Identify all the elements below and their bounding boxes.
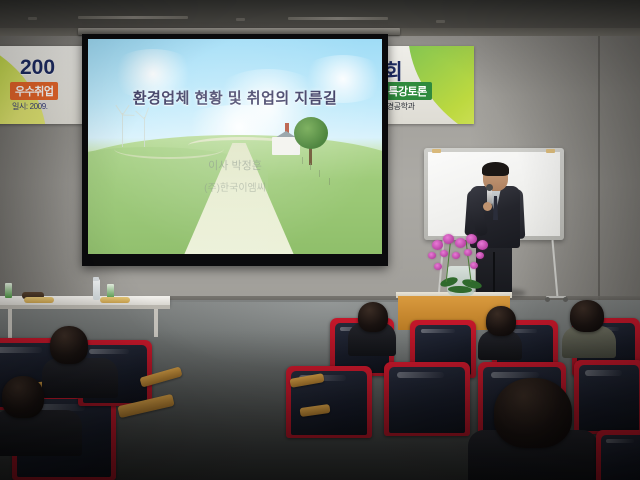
orchid-bloom xyxy=(428,252,436,259)
turbine-blade xyxy=(135,111,145,120)
seat-cushion xyxy=(601,435,640,480)
ceiling-light-strip xyxy=(78,16,188,19)
audience-head xyxy=(494,378,572,448)
seat-cushion xyxy=(389,367,465,433)
ceiling xyxy=(0,0,640,30)
audience-head xyxy=(570,300,604,332)
lecture-hall-photo: 200 우수취업 일시: 2009. 수회 취업특강토론 학교 환경공학과 xyxy=(0,0,640,480)
orchid-bloom xyxy=(434,263,442,270)
orchid-bloom xyxy=(470,262,478,269)
table-leg xyxy=(154,309,158,337)
orchid-bloom xyxy=(455,238,466,248)
ceiling-fixture xyxy=(236,18,245,21)
bottle-cap xyxy=(93,277,99,281)
projection-screen: 환경업체 현황 및 취업의 지름길 이사 박정훈 (주)한국이엠씨 xyxy=(82,34,388,266)
orchid-bloom xyxy=(443,234,454,244)
banner-left-year: 200 xyxy=(20,56,55,80)
orchid-bloom xyxy=(477,240,488,250)
orchid-bloom xyxy=(464,249,472,256)
auditorium-seat xyxy=(596,430,640,480)
banner-left-subtitle: 일시: 2009. xyxy=(12,101,48,112)
whiteboard-clip xyxy=(432,149,441,153)
whiteboard-clip xyxy=(546,149,555,153)
seat-highlight xyxy=(606,439,635,444)
orchid-bloom xyxy=(452,252,460,259)
water-bottle xyxy=(93,279,100,300)
slide-tree xyxy=(294,117,328,149)
ceiling-fixture xyxy=(28,17,37,20)
auditorium-seat xyxy=(384,362,470,436)
snack-plate xyxy=(100,297,130,303)
presenter-hand xyxy=(483,202,492,211)
ceiling-light-strip xyxy=(288,17,388,20)
presenter-leg-gap xyxy=(493,252,495,296)
screen-bottom-bar xyxy=(82,254,388,266)
presenter-hair xyxy=(482,162,509,176)
orchid-bloom xyxy=(466,234,477,244)
audience-shoulders xyxy=(42,358,118,398)
whiteboard-wheel xyxy=(545,297,550,302)
turbine-blade xyxy=(144,108,149,120)
auditorium-seat xyxy=(574,360,640,434)
orchid-bloom xyxy=(432,240,443,250)
audience-head xyxy=(486,306,516,336)
projection-screen-surface: 환경업체 현황 및 취업의 지름길 이사 박정훈 (주)한국이엠씨 xyxy=(88,39,382,254)
orchid-bloom xyxy=(476,252,484,259)
ceiling-fixture xyxy=(436,20,445,23)
wall-corner xyxy=(598,36,600,304)
refreshment-table-edge xyxy=(0,305,170,309)
audience-head xyxy=(50,326,88,364)
seat-highlight xyxy=(585,370,622,376)
seat-highlight xyxy=(421,329,456,334)
slide-company-name: (주)한국이엠씨 xyxy=(88,179,382,194)
turbine-blade xyxy=(122,115,134,116)
whiteboard-wheel xyxy=(563,297,568,302)
microphone-capsule-icon xyxy=(486,184,493,191)
slide-presenter-name: 이사 박정훈 xyxy=(88,157,382,173)
wind-turbine-pole xyxy=(122,113,123,147)
seat-highlight xyxy=(397,372,444,378)
seat-highlight xyxy=(89,349,129,354)
seat-highlight xyxy=(491,372,539,378)
audience-head xyxy=(2,376,44,418)
audience-head xyxy=(358,302,388,332)
seat-cushion xyxy=(579,365,639,431)
banner-left-tag: 우수취업 xyxy=(10,82,58,100)
snack-plate xyxy=(24,297,54,303)
seat-highlight xyxy=(0,347,42,353)
slide-title: 환경업체 현황 및 취업의 지름길 xyxy=(88,87,382,108)
orchid-bloom xyxy=(440,250,448,257)
soda-can xyxy=(5,283,12,298)
